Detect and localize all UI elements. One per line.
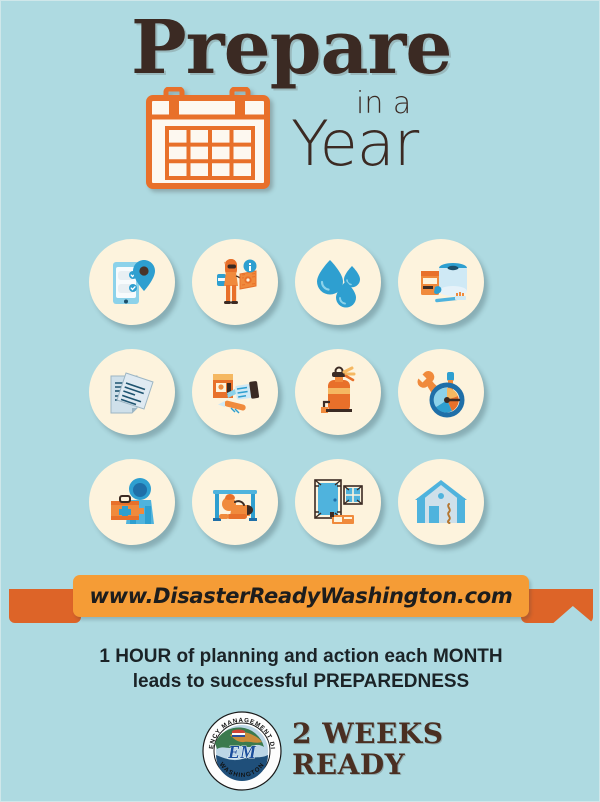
ribbon-tail-left — [9, 589, 81, 623]
slogan-line-2: READY — [292, 749, 443, 780]
icon-cell[interactable] — [89, 239, 175, 325]
seal-center-text: EM — [227, 742, 257, 762]
icon-cell[interactable] — [398, 459, 484, 545]
icon-row — [89, 459, 519, 569]
icon-cell[interactable] — [295, 459, 381, 545]
calendar-icon — [144, 87, 276, 192]
icon-cell[interactable] — [398, 349, 484, 435]
slogan-line-1: 2 WEEKS — [292, 718, 443, 749]
page-title: Prepare — [131, 9, 491, 87]
emergency-management-division-seal: EM EMERGENCY MANAGEMENT DIVISION WASHING… — [202, 711, 282, 791]
icon-cell[interactable] — [295, 349, 381, 435]
shelter-in-place-icon — [295, 459, 381, 545]
icon-row — [89, 239, 519, 349]
person-map-info-icon — [192, 239, 278, 325]
phone-checklist-location-icon — [89, 239, 175, 325]
tagline-line-2: leads to successful PREPAREDNESS — [1, 669, 600, 694]
icon-cell[interactable] — [89, 459, 175, 545]
ribbon-banner[interactable]: www.DisasterReadyWashington.com — [73, 575, 529, 617]
documents-icon — [89, 349, 175, 435]
url-ribbon[interactable]: www.DisasterReadyWashington.com — [1, 573, 600, 633]
home-safety-icon — [398, 459, 484, 545]
water-drops-icon — [295, 239, 381, 325]
icon-row — [89, 349, 519, 459]
poster-canvas: Prepare — [0, 0, 600, 802]
slogan: 2 WEEKS READY — [292, 718, 443, 780]
hygiene-supplies-icon — [398, 239, 484, 325]
ribbon-tail-right — [521, 589, 593, 623]
poster-header: Prepare — [1, 1, 600, 221]
preparedness-icon-grid — [89, 239, 519, 569]
wrench-utility-shutoff-icon — [398, 349, 484, 435]
drop-cover-hold-icon — [192, 459, 278, 545]
page-subtitle-year: Year — [291, 113, 418, 175]
website-url[interactable]: www.DisasterReadyWashington.com — [90, 584, 513, 608]
first-aid-kit-person-icon — [89, 459, 175, 545]
icon-cell[interactable] — [295, 239, 381, 325]
icon-cell[interactable] — [192, 349, 278, 435]
icon-cell[interactable] — [192, 459, 278, 545]
tagline-line-1: 1 HOUR of planning and action each MONTH — [1, 644, 600, 669]
icon-cell[interactable] — [398, 239, 484, 325]
flashlight-radio-tools-icon — [192, 349, 278, 435]
icon-cell[interactable] — [192, 239, 278, 325]
fire-extinguisher-icon — [295, 349, 381, 435]
poster-footer: EM EMERGENCY MANAGEMENT DIVISION WASHING… — [1, 707, 600, 797]
tagline: 1 HOUR of planning and action each MONTH… — [1, 644, 600, 694]
icon-cell[interactable] — [89, 349, 175, 435]
